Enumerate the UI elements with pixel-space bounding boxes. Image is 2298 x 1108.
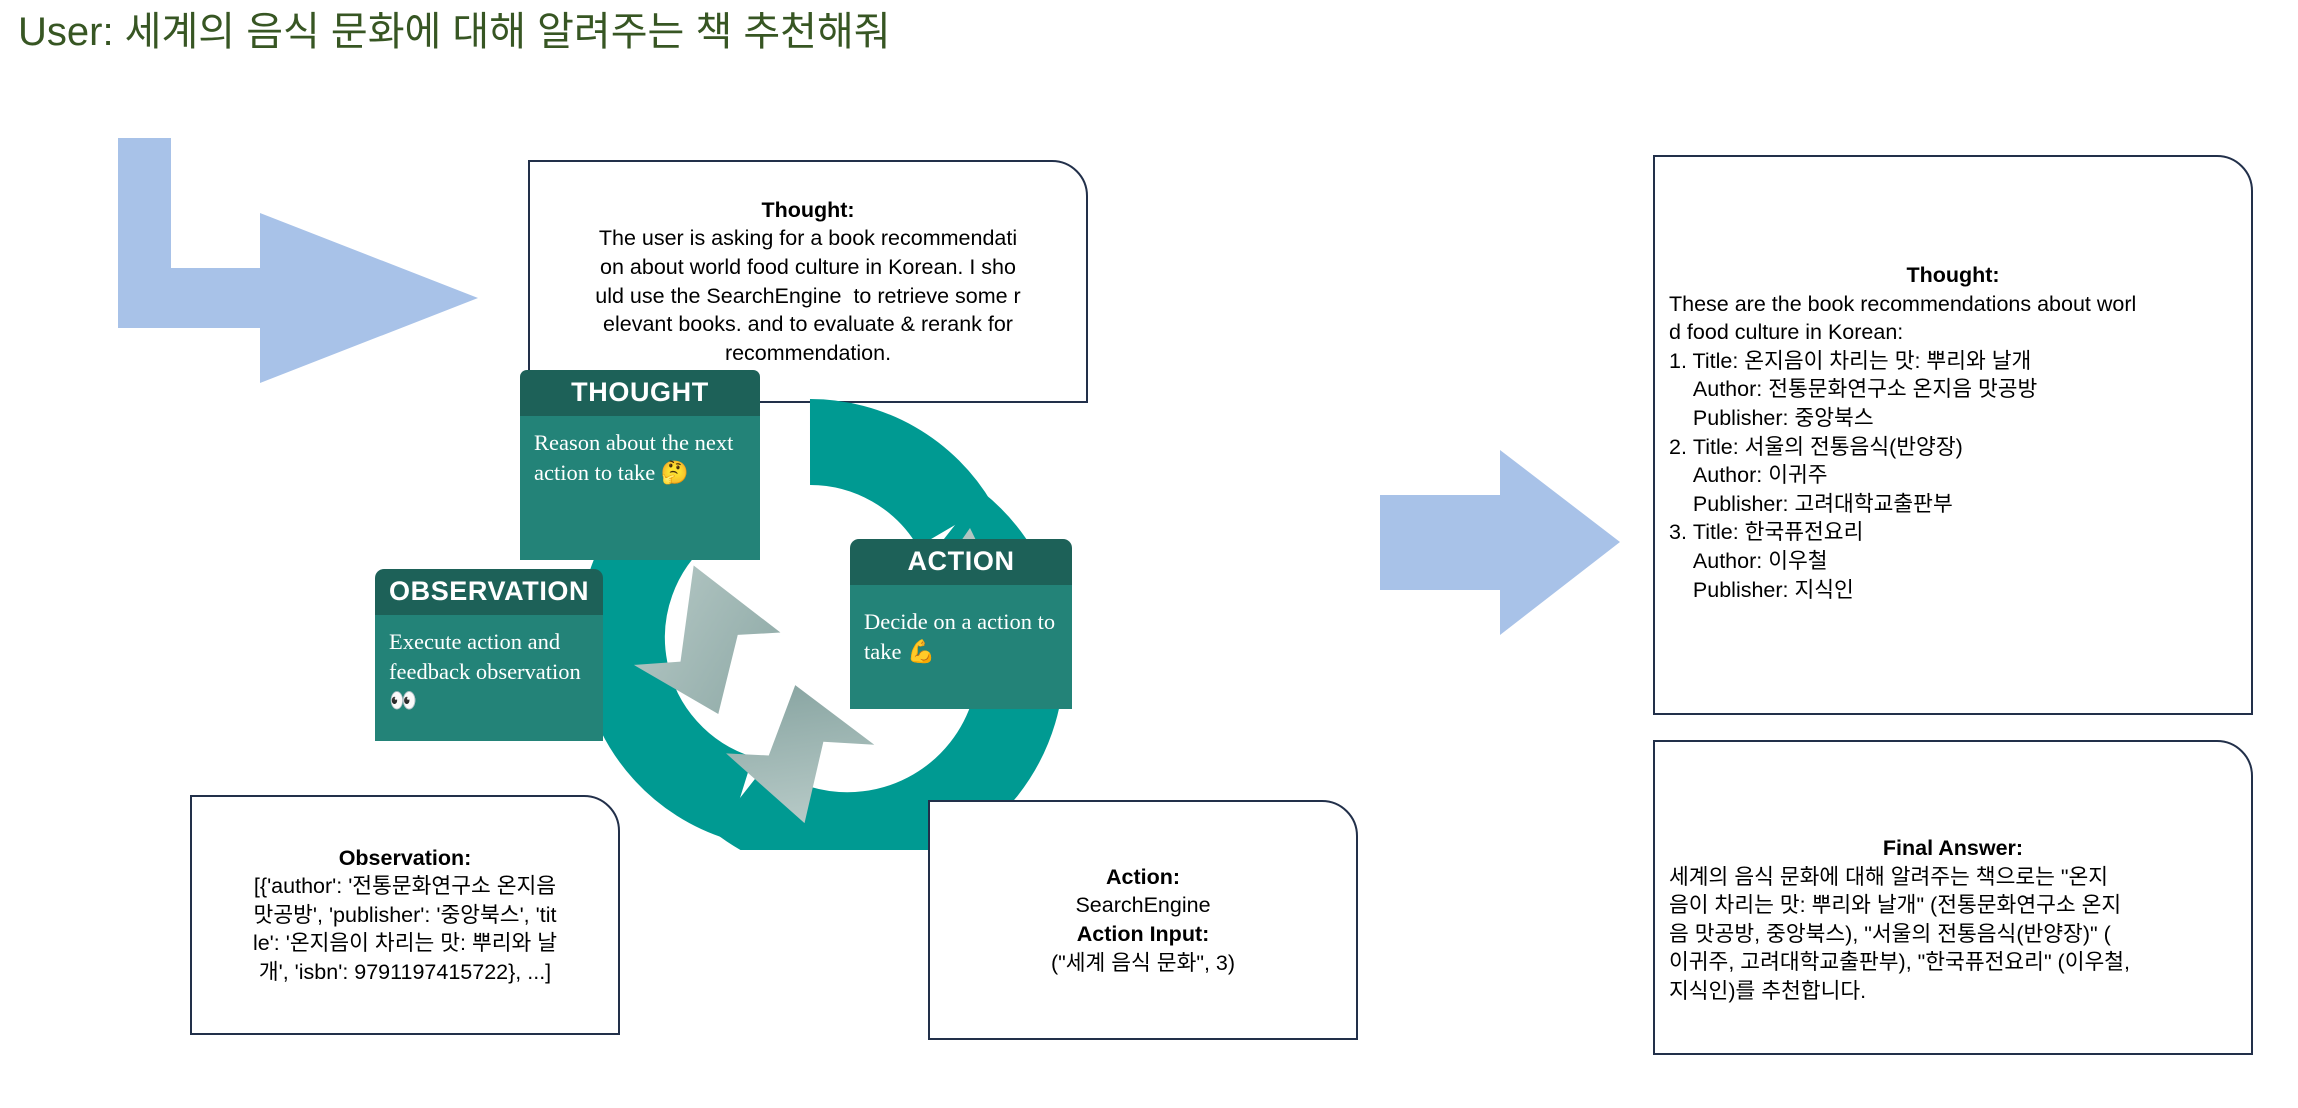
action-input-heading: Action Input:	[1077, 920, 1210, 949]
thought-box-right: Thought: These are the book recommendati…	[1653, 155, 2253, 715]
bent-arrow-right-icon	[118, 138, 478, 398]
react-cycle-diagram: THOUGHT Reason about the next action to …	[520, 380, 1100, 850]
slide-canvas: User: 세계의 음식 문화에 대해 알려주는 책 추천해줘 Thought:…	[0, 0, 2298, 1108]
action-input-value: ("세계 음식 문화", 3)	[1051, 949, 1235, 978]
final-answer-body: 세계의 음식 문화에 대해 알려주는 책으로는 "온지 음이 차리는 맛: 뿌리…	[1669, 863, 2130, 1006]
thought-right-body: These are the book recommendations about…	[1669, 290, 2136, 605]
thought-left-body: The user is asking for a book recommenda…	[595, 224, 1020, 367]
final-answer-box: Final Answer: 세계의 음식 문화에 대해 알려주는 책으로는 "온…	[1653, 740, 2253, 1055]
cycle-card-thought-header: THOUGHT	[520, 370, 760, 416]
flexed-biceps-icon: 💪	[907, 639, 935, 665]
action-box: Action: SearchEngine Action Input: ("세계 …	[928, 800, 1358, 1040]
thought-left-heading: Thought:	[761, 196, 854, 225]
thinking-face-icon: 🤔	[661, 460, 689, 486]
cycle-card-action-body: Decide on a action to take	[864, 609, 1055, 664]
cycle-card-thought-body: Reason about the next action to take	[534, 430, 733, 485]
eyes-icon: 👀	[389, 688, 417, 714]
cycle-card-observation-header: OBSERVATION	[375, 569, 603, 615]
observation-heading: Observation:	[339, 844, 472, 873]
arrow-right-icon	[1380, 450, 1620, 635]
page-title: User: 세계의 음식 문화에 대해 알려주는 책 추천해줘	[18, 8, 891, 56]
thought-box-left: Thought: The user is asking for a book r…	[528, 160, 1088, 403]
action-tool-name: SearchEngine	[1075, 891, 1210, 920]
observation-body: [{'author': '전통문화연구소 온지음 맛공방', 'publishe…	[253, 872, 557, 986]
cycle-card-action-header: ACTION	[850, 539, 1072, 585]
cycle-card-observation-body: Execute action and feedback observation	[389, 629, 581, 684]
observation-box: Observation: [{'author': '전통문화연구소 온지음 맛공…	[190, 795, 620, 1035]
thought-right-heading: Thought:	[1669, 261, 2237, 290]
final-answer-heading: Final Answer:	[1669, 834, 2237, 863]
action-heading: Action:	[1106, 863, 1180, 892]
